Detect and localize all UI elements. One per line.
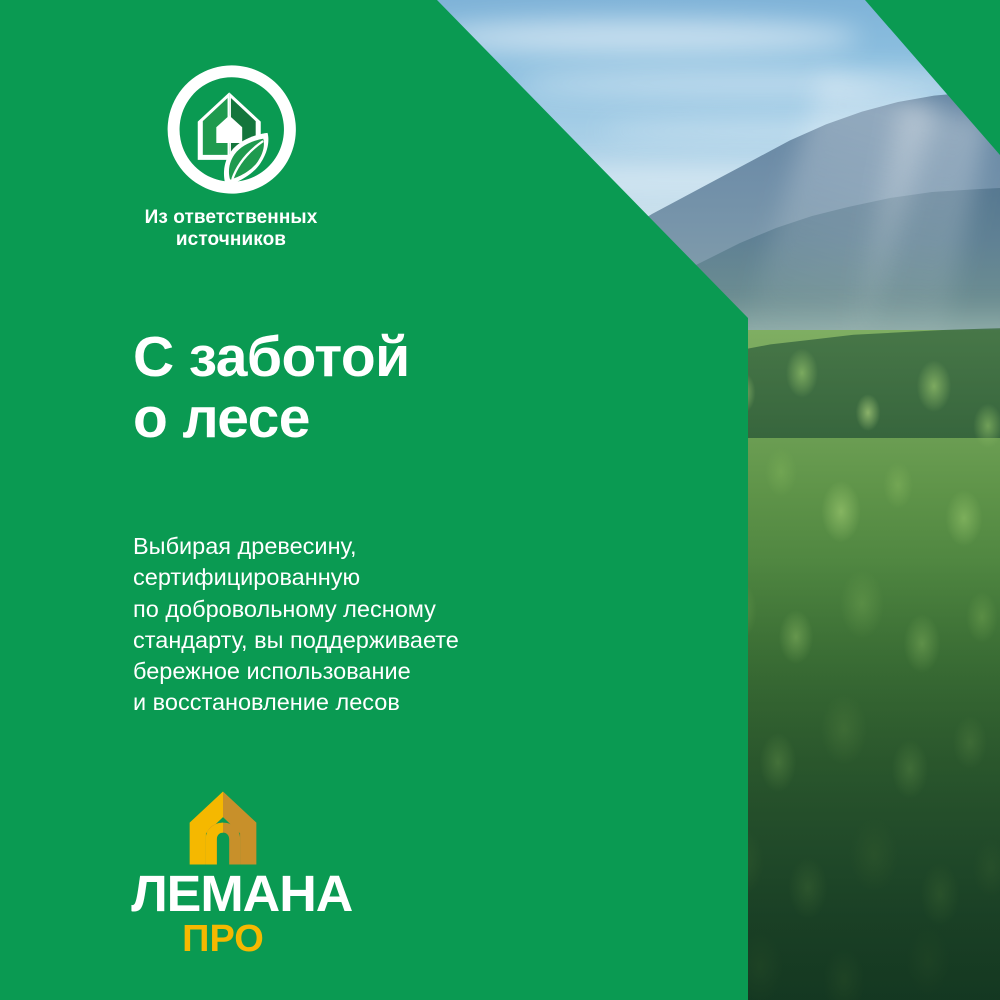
eco-promo-poster: Из ответственных источников С заботой о … bbox=[0, 0, 1000, 1000]
brand-lockup: ЛЕМАНА ПРО bbox=[133, 790, 313, 958]
brand-name: ЛЕМАНА bbox=[131, 868, 315, 919]
body-copy: Выбирая древесину, сертифицированную по … bbox=[133, 531, 459, 719]
lemana-roof-house-icon bbox=[184, 790, 262, 866]
cloud-streak bbox=[520, 70, 990, 96]
page-title: С заботой о лесе bbox=[133, 327, 410, 449]
cloud-streak bbox=[430, 20, 860, 54]
brand-sub-label: ПРО bbox=[133, 920, 313, 958]
eco-seal: Из ответственных источников bbox=[131, 62, 331, 252]
eco-seal-caption: Из ответственных источников bbox=[131, 207, 331, 252]
eco-house-leaf-circle-icon bbox=[164, 62, 299, 197]
